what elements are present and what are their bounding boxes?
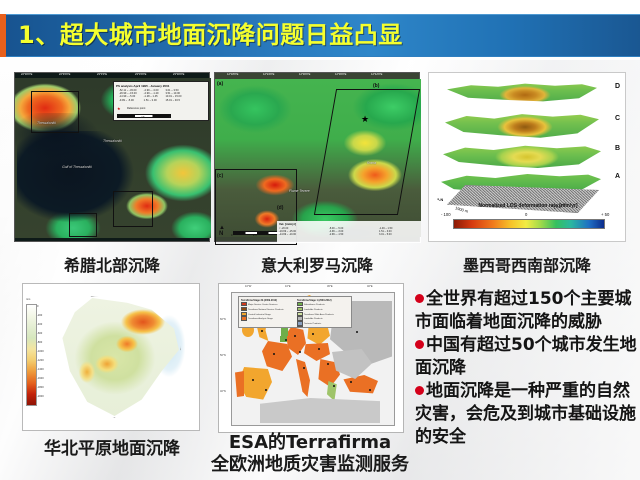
mexico-layer-B [443,141,601,171]
rome-axis-tick: 12°42'0"E [371,73,382,76]
rome-axis-tick: 12°36'0"E [335,73,346,76]
esa-legend-item: Wider Products [297,326,351,328]
esa-legend-swatch [241,312,247,316]
greece-label-city: Thessaloniki [103,139,122,143]
rome-label-river: Fiume Tevere [289,189,310,193]
rome-legend-row: -2.99 ~ -1.50 [329,233,343,236]
esa-country-netherlands [281,327,288,336]
greece-inset-box-3 [69,213,97,237]
rome-scalebar-tick: 2.5 [253,234,257,237]
esa-axis-tick: 50°N [220,354,226,357]
mexico-layer-label-A: A [615,173,620,180]
bullet-item: 中国有超过50个城市发生地面沉降 [415,334,637,380]
esa-axis-tick: 10°E [285,285,291,288]
greece-map-legend: PS analysis April 1995 - January 2001 -5… [113,81,209,121]
ncp-scale-tick: -1000 [37,350,44,353]
rome-scalebar-tick: 0 [231,234,232,237]
esa-legend-item: Terrafirma Analysis Stage [241,316,295,321]
figure-rome-subsidence-map: ★ (a) (b) (c) (d) Fiume Tevere Roma ▲N 0… [214,72,420,242]
figure-greece-subsidence-map: Thessaloniki Gulf of Thessaloniki Thessa… [14,72,210,242]
mexico-surface-D [447,79,597,105]
reference-point-star-icon: ★ [117,106,121,111]
mexico-layer-label-C: C [615,115,620,122]
esa-axis-tick: 40°E [367,285,373,288]
greece-scalebar-tick: 0 [119,116,120,119]
esa-site-dot [356,331,358,333]
rome-north-arrow-icon: ▲N [219,225,225,237]
esa-site-dot [333,385,335,387]
mexico-colorbar [453,219,605,229]
caption-rome: 意大利罗马沉降 [214,252,420,276]
esa-site-dot [294,335,296,337]
rome-legend-row: 3.01 ~ 5.00 [379,233,392,236]
mexico-north-arrow-icon: ↖N [437,197,443,202]
rome-panel-tag-b: (b) [373,83,379,89]
caption-mexico: 墨西哥西南部沉降 [428,252,626,276]
mexico-layer-C [445,109,599,141]
title-accent-bar [0,14,6,57]
esa-legend-swatch [297,326,303,328]
esa-site-dot [369,389,371,391]
esa-legend-swatch [297,316,303,320]
ncp-scale-tick: -200 [37,314,42,317]
esa-site-dot [299,351,301,353]
rome-scalebar [233,231,281,235]
greece-label-gulf: Gulf of Thessaloniki [47,165,107,169]
ncp-scale-tick: -1200 [37,359,44,362]
esa-legend-swatch [297,307,303,311]
caption-esa-line2: 全欧洲地质灾害监测服务 [204,450,416,476]
ncp-scale-tick: -600 [37,332,42,335]
bullet-text: 地面沉降是一种严重的自然灾害，会危及到城市基础设施的安全 [415,381,636,447]
bullet-marker-icon [415,294,424,303]
rome-label-city: Roma [367,161,376,165]
ncp-scale-unit: mm [26,298,30,301]
figure-north-china-plain-subsidence: mm 0 -200 -400 -600 -800 -1000 -1200 -14… [22,283,200,431]
bullet-marker-icon [415,340,424,349]
ncp-scale-tick: -1800 [37,386,44,389]
esa-map-legend: Terrafirma Stage 3b (2009-2012) Major Se… [238,296,352,328]
greece-scalebar-tick: 2.5 [141,116,145,119]
rome-axis-tick: 12°24'0"E [263,73,274,76]
page-title: 1、超大城市地面沉降问题日益凸显 [18,14,403,57]
ncp-scale-tick: -400 [37,323,42,326]
greece-scalebar-tick: 5 [169,116,170,119]
greece-legend-row: 1.51 ~ 3.00 [144,99,159,102]
rome-axis-tick: 12°18'0"E [227,73,238,76]
greece-label-thessaloniki: Thessaloniki [37,121,56,125]
esa-site-dot [327,363,329,365]
greece-axis-tick: 23°15'0"E [135,73,146,76]
bullet-text: 中国有超过50个城市发生地面沉降 [415,335,637,378]
bullet-list: 全世界有超过150个主要城市面临着地面沉降的威胁 中国有超过50个城市发生地面沉… [415,288,637,449]
greece-axis-tick: 22°45'0"E [59,73,70,76]
mexico-colorbar-min: - 100 [441,212,451,217]
greece-axis-tick: 23°30'0"E [173,73,184,76]
rome-legend-title: Vel. [mm/yr] [279,222,421,226]
slide-root: 1、超大城市地面沉降问题日益凸显 Thessaloniki Gulf of Th… [0,0,640,480]
esa-site-dot [303,367,305,369]
greece-axis-tick: 23°0'0"E [97,73,107,76]
esa-legend-swatch [297,312,303,316]
rome-panel-tag-c: (c) [217,173,223,179]
greece-legend-title: PS analysis April 1995 - January 2001 [116,84,208,88]
esa-axis-tick: 60°N [220,318,226,321]
rome-axis-tick: 12°30'0"E [299,73,310,76]
esa-legend-swatch [241,316,247,320]
esa-legend-swatch [297,302,303,306]
esa-legend-swatch [297,321,303,325]
ncp-scale-tick: -800 [37,341,42,344]
mexico-layer-label-B: B [615,145,620,152]
greece-inset-box-2 [113,191,153,227]
ncp-map-plot [37,290,187,426]
bullet-item: 全世界有超过150个主要城市面临着地面沉降的威胁 [415,288,637,334]
esa-axis-tick: 10°W [245,285,251,288]
figure-mexico-3d-deformation: D C B A 1900 m 1300 m ↖N Normalized LOS … [428,72,626,242]
mexico-colorbar-max: + 50 [601,212,609,217]
mexico-surface-C [445,109,599,141]
greece-legend-row: -9.99 ~ -5.00 [119,99,137,102]
esa-site-dot [265,389,267,391]
caption-north-china-plain: 华北平原地面沉降 [14,434,210,459]
mexico-layer-D [447,79,597,105]
esa-legend-swatch [241,307,247,311]
esa-site-dot [252,379,254,381]
esa-axis-tick: 40°N [220,390,226,393]
esa-axis-tick: 30°E [327,285,333,288]
esa-site-dot [350,381,352,383]
ncp-colorscale [26,304,37,406]
caption-greece: 希腊北部沉降 [14,252,210,276]
mexico-surface-B [443,141,601,171]
rome-reference-star-icon: ★ [361,115,369,124]
ncp-scale-tick: -1600 [37,377,44,380]
greece-legend-row: 15.01 ~ 46.5 [165,99,181,102]
rome-map-legend: Vel. [mm/yr] < -20.00 -19.99 ~ -15.00 -1… [277,221,421,243]
ncp-scale-tick: -1400 [37,368,44,371]
esa-site-dot [285,339,287,341]
slide-title-bar: 1、超大城市地面沉降问题日益凸显 [0,14,640,57]
bullet-marker-icon [415,386,424,395]
mexico-layer-label-D: D [615,83,620,90]
rome-legend-row: -14.99 ~ -10.00 [279,233,296,236]
esa-site-dot [261,330,263,332]
esa-map-plot: Terrafirma Stage 3b (2009-2012) Major Se… [231,292,395,426]
figure-esa-terrafirma-map: Terrafirma Stage 3b (2009-2012) Major Se… [218,283,404,433]
greece-inset-box-1 [31,91,79,133]
esa-site-dot [312,333,314,335]
bullet-item: 地面沉降是一种严重的自然灾害，会危及到城市基础设施的安全 [415,380,637,449]
greece-legend-refpoint: Reference point [127,107,145,110]
mexico-colorbar-title: Normalized LOS deformation rate [mm/yr] [429,203,627,209]
esa-site-dot [318,348,320,350]
greece-axis-tick: 22°30'0"E [21,73,32,76]
mexico-colorbar-mid: 0 [525,212,527,217]
esa-legend-swatch [241,302,247,306]
rome-panel-tag-d: (d) [277,205,283,211]
ncp-scale-tick: -2000 [37,395,44,398]
ncp-scale-tick: 0 [37,305,38,308]
greece-legend-columns: -52.11 ~ -33.00 -29.99 ~ -15.00 -14.99 ~… [114,89,208,103]
rome-panel-tag-a: (a) [217,81,223,87]
esa-site-dot [273,353,275,355]
bullet-text: 全世界有超过150个主要城市面临着地面沉降的威胁 [415,289,632,332]
